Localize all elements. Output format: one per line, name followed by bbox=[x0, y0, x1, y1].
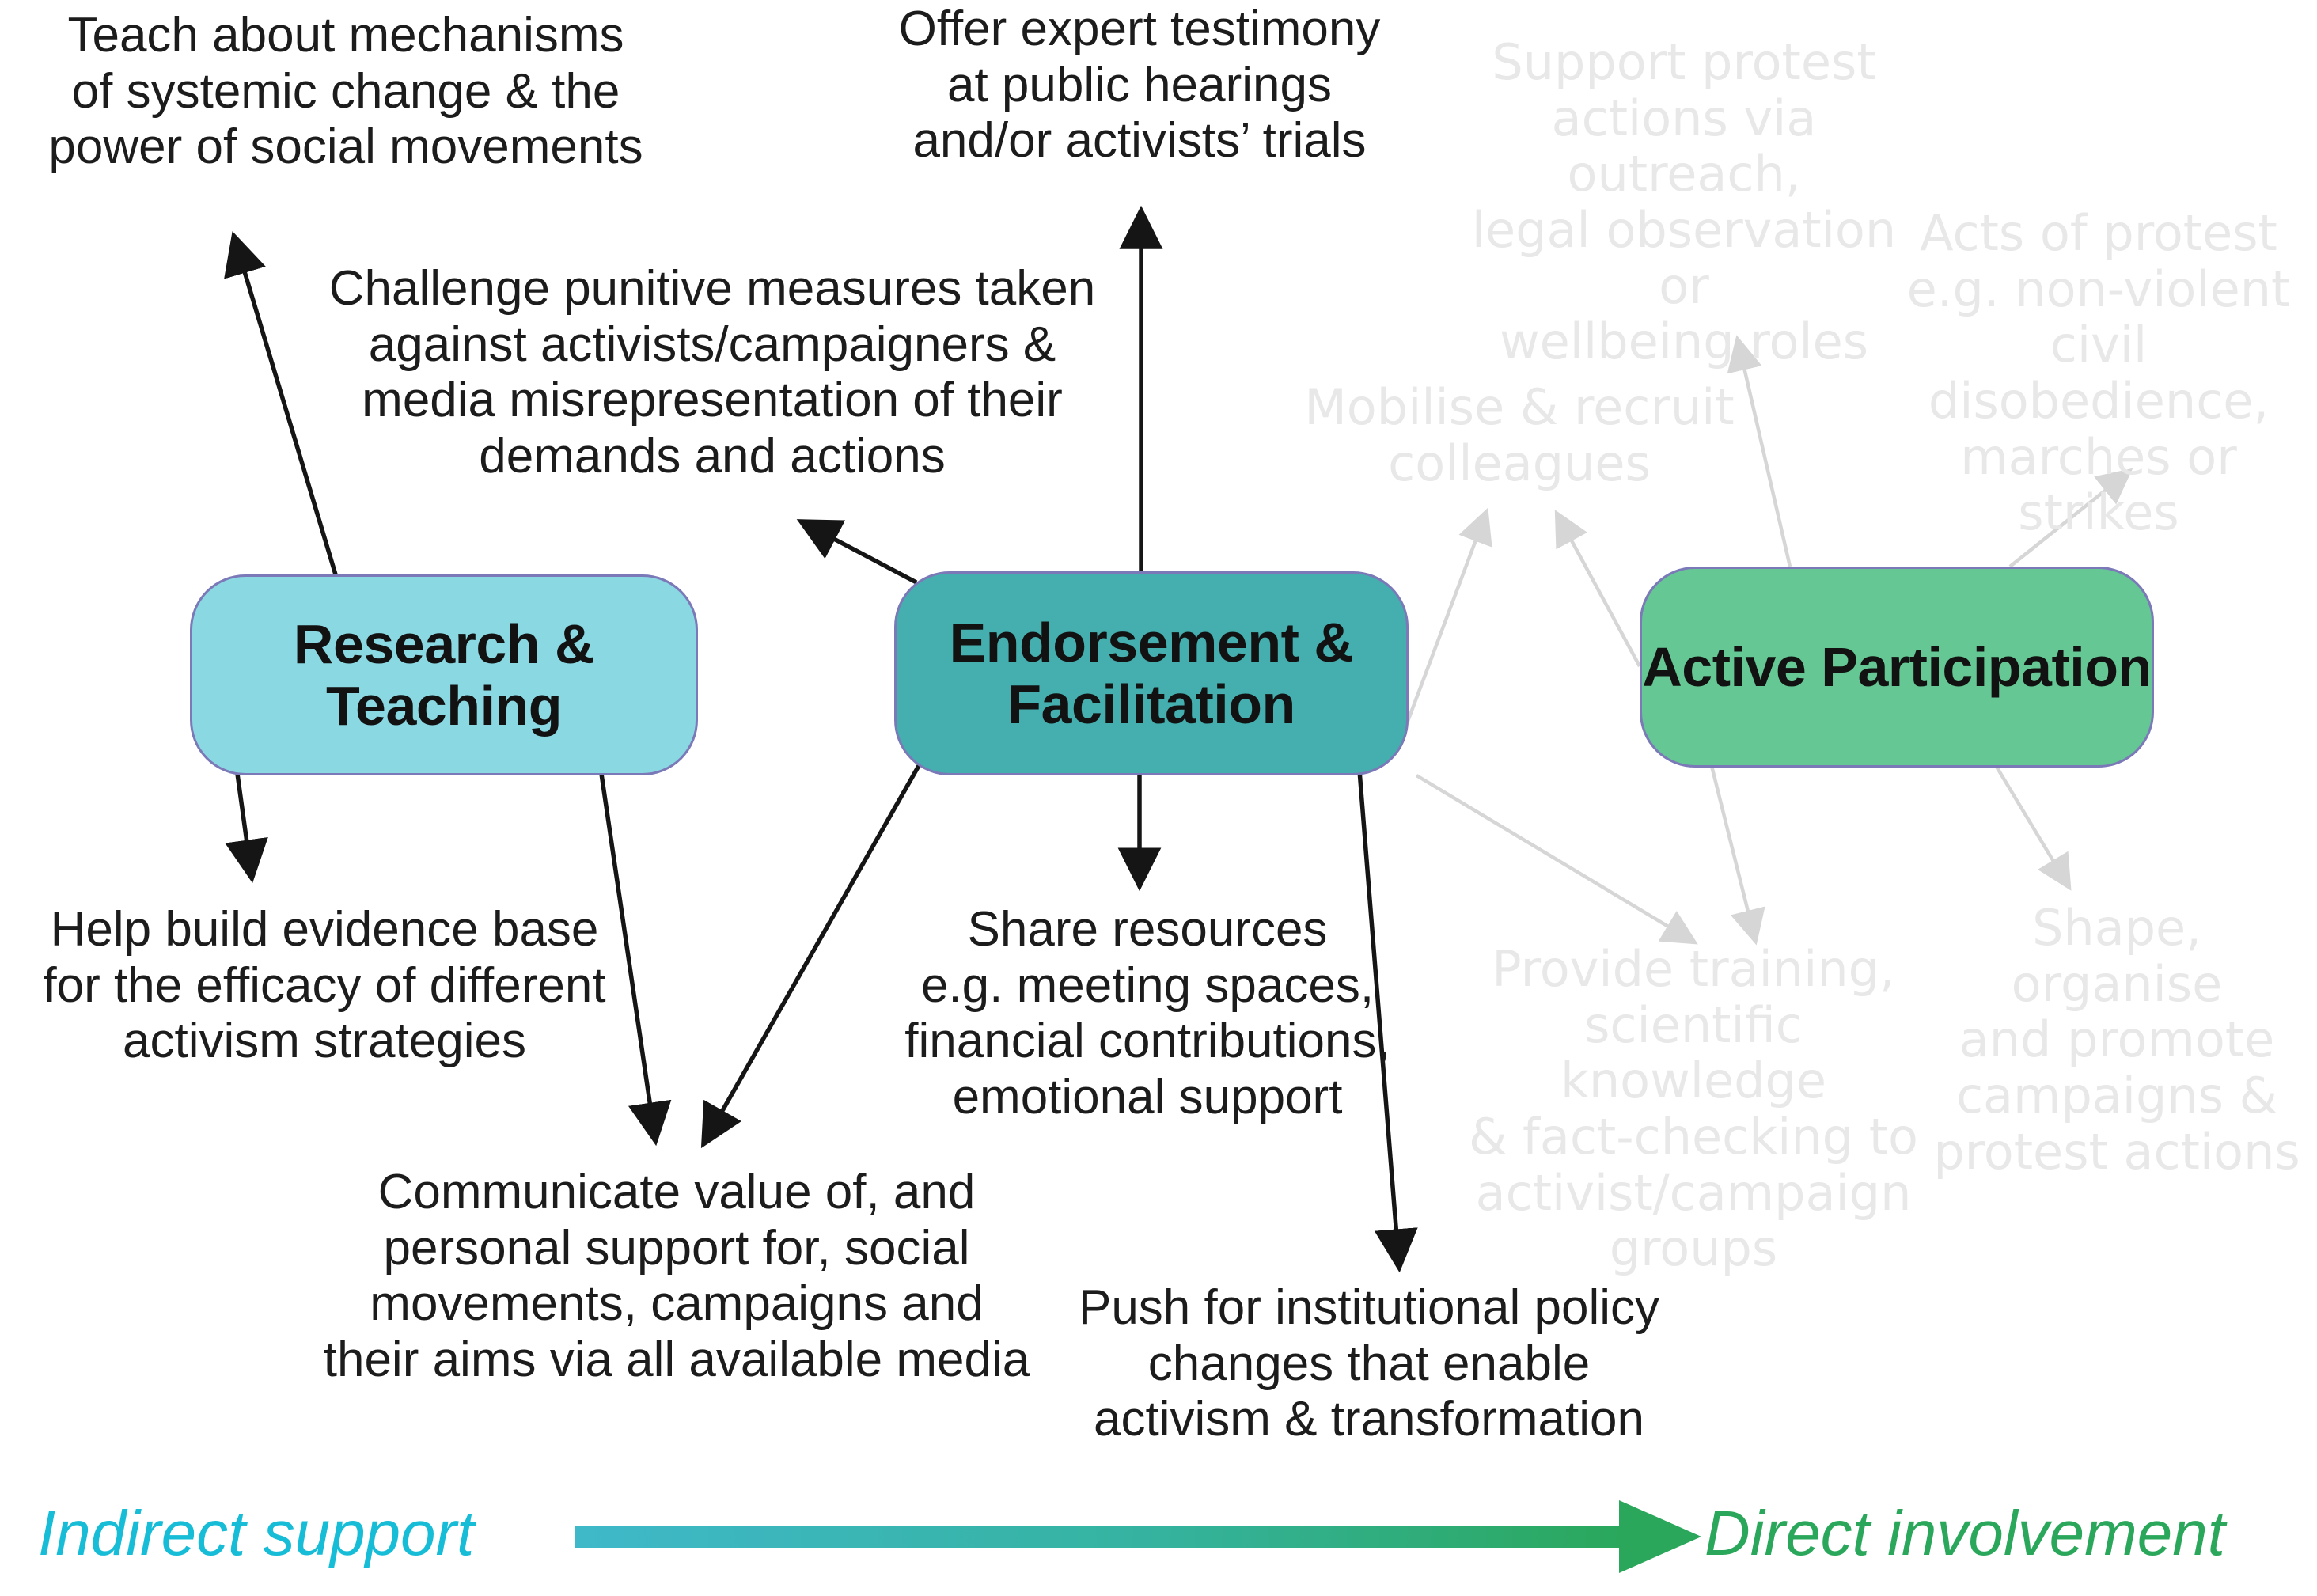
note-provide-training: Provide training, scientific knowledge &… bbox=[1464, 942, 1923, 1277]
diagram-canvas: Teach about mechanisms of systemic chang… bbox=[0, 0, 2317, 1596]
spectrum-label-direct-involvement: Direct involvement bbox=[1705, 1497, 2225, 1570]
note-expert-testimony: Offer expert testimony at public hearing… bbox=[863, 2, 1416, 169]
node-research-and-teaching[interactable]: Research & Teaching bbox=[190, 574, 698, 775]
note-mobilise-recruit-colleagues: Mobilise & recruit colleagues bbox=[1290, 380, 1749, 491]
note-support-protest-actions: Support protest actions via outreach, le… bbox=[1447, 35, 1921, 370]
note-shape-organise-promote: Shape, organise and promote campaigns & … bbox=[1923, 900, 2311, 1180]
note-challenge-punitive-measures: Challenge punitive measures taken agains… bbox=[293, 261, 1132, 485]
note-share-resources: Share resources e.g. meeting spaces, fin… bbox=[855, 902, 1440, 1126]
note-teach-mechanisms: Teach about mechanisms of systemic chang… bbox=[17, 8, 674, 176]
note-acts-of-protest: Acts of protest e.g. non-violent civil d… bbox=[1885, 206, 2312, 541]
spectrum-bar: Indirect support Direct involvement bbox=[0, 1473, 2317, 1596]
node-active-participation[interactable]: Active Participation bbox=[1640, 567, 2154, 768]
note-push-institutional-policy: Push for institutional policy changes th… bbox=[1052, 1280, 1686, 1448]
note-build-evidence-base: Help build evidence base for the efficac… bbox=[8, 902, 641, 1070]
note-communicate-value: Communicate value of, and personal suppo… bbox=[309, 1165, 1045, 1389]
node-endorsement-and-facilitation[interactable]: Endorsement & Facilitation bbox=[894, 571, 1409, 775]
spectrum-label-indirect-support: Indirect support bbox=[38, 1497, 474, 1570]
